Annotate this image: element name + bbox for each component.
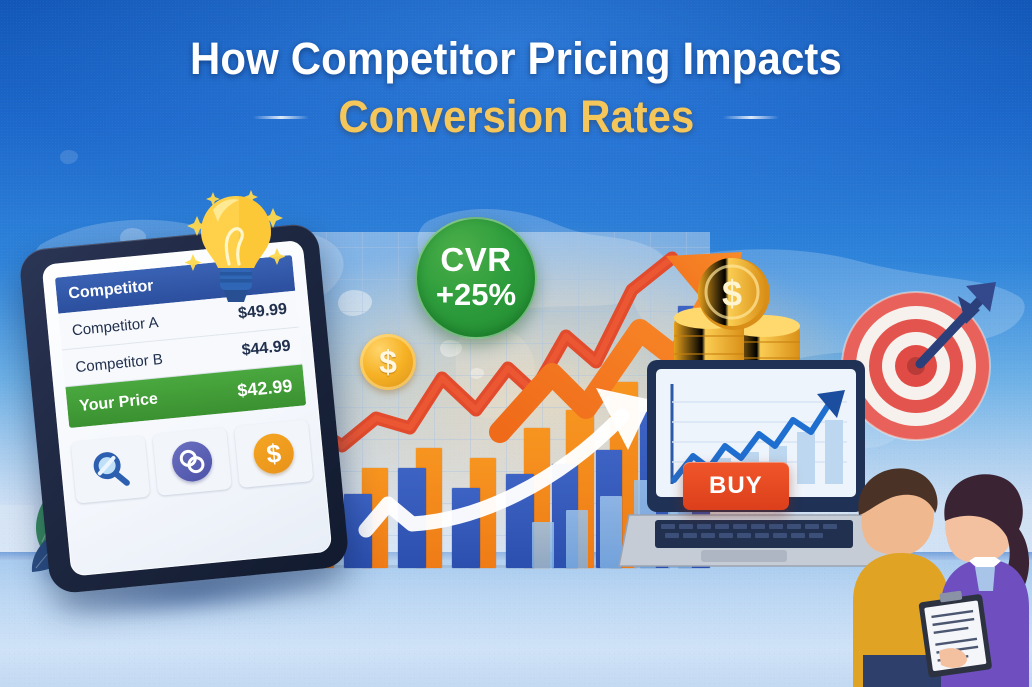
competitor-name: Competitor A <box>71 314 159 339</box>
search-icon <box>89 448 133 492</box>
svg-text:$: $ <box>722 273 742 314</box>
title-rule-right <box>723 116 779 119</box>
your-price-label: Your Price <box>78 390 158 415</box>
cvr-badge: CVR +25% <box>415 217 537 339</box>
competitor-price: $44.99 <box>241 338 291 361</box>
pricing-table-header-label: Competitor <box>68 277 155 303</box>
tablet-screen: Competitor Competitor A $49.99 Competito… <box>42 240 333 577</box>
hero-title-block: How Competitor Pricing Impacts Conversio… <box>0 32 1032 143</box>
tablet-icon-row: $ <box>71 419 314 504</box>
people-group <box>845 405 1032 687</box>
infographic-canvas: How Competitor Pricing Impacts Conversio… <box>0 0 1032 687</box>
title-line-1: How Competitor Pricing Impacts <box>36 32 996 85</box>
idea-lightbulb <box>191 186 281 306</box>
your-price-value: $42.99 <box>237 376 294 402</box>
tablet-device: Competitor Competitor A $49.99 Competito… <box>18 222 350 594</box>
cvr-badge-top: CVR <box>440 243 511 276</box>
price-button[interactable]: $ <box>234 419 314 488</box>
title-line-2: Conversion Rates <box>338 91 694 143</box>
title-rule-left <box>253 116 309 119</box>
competitor-name: Competitor B <box>75 350 164 375</box>
dollar-icon: $ <box>252 432 296 476</box>
percent-icon <box>170 440 214 484</box>
search-button[interactable] <box>71 435 151 504</box>
percent-button[interactable] <box>152 427 232 496</box>
cvr-badge-bottom: +25% <box>436 278 516 312</box>
gold-coin-icon: $ <box>360 334 416 390</box>
buy-button[interactable]: BUY <box>683 462 789 510</box>
